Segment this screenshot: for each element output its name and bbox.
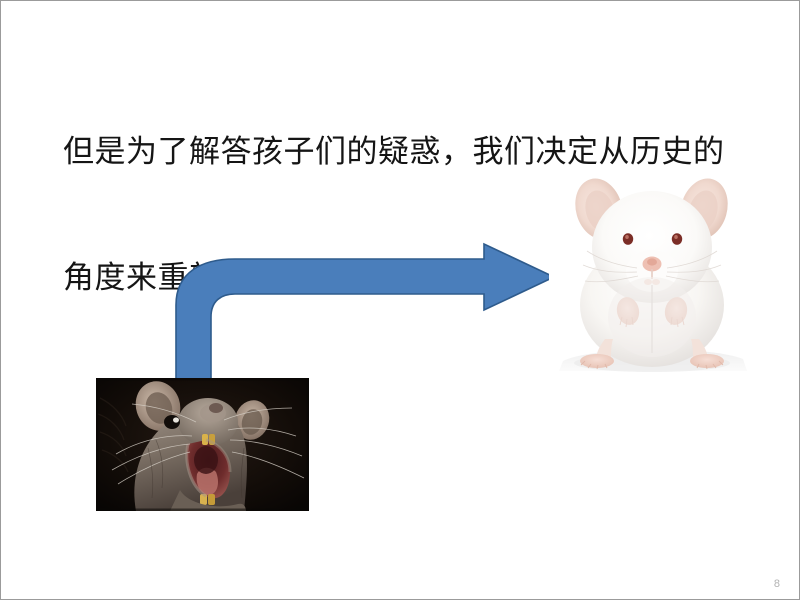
slide-canvas: 但是为了解答孩子们的疑惑，我们决定从历史的 角度来重新认识这个问题 (0, 0, 800, 600)
curved-right-arrow-icon (161, 233, 571, 393)
page-number: 8 (774, 578, 780, 590)
wild-rat-photo (96, 378, 309, 511)
white-lab-mouse-photo (549, 165, 755, 377)
